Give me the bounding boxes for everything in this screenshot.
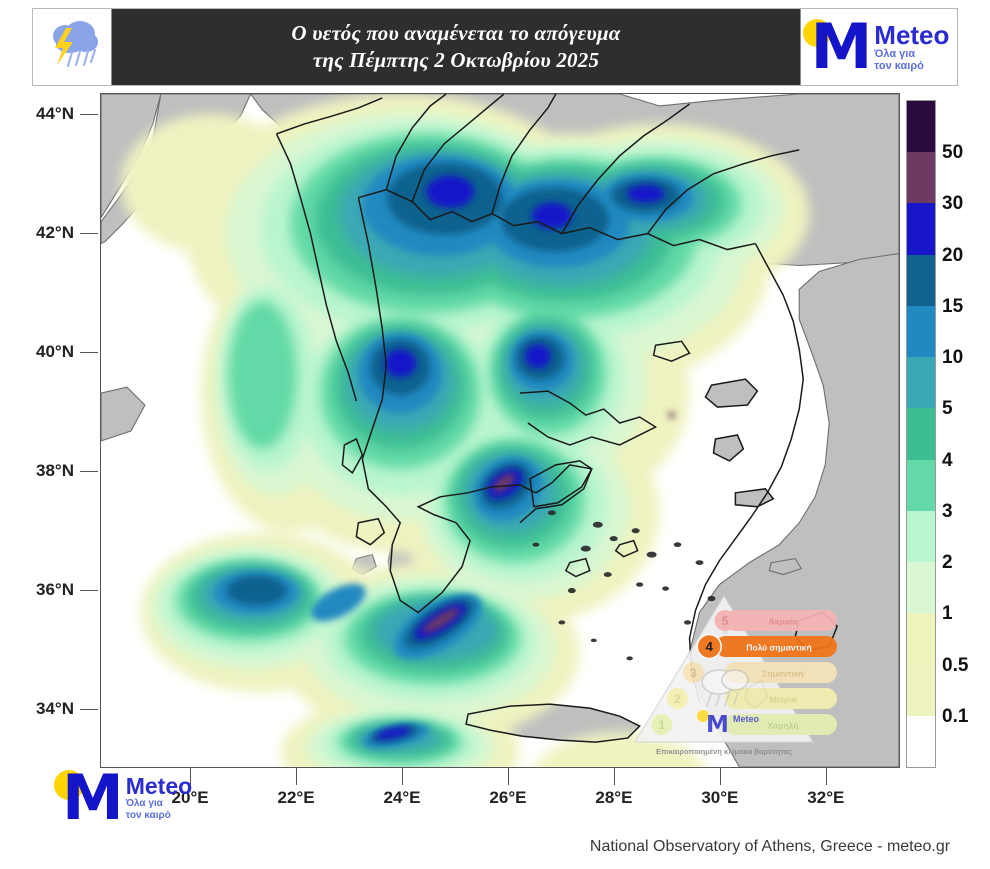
lon-tick: [720, 768, 721, 785]
colorbar-tick-label: 30: [942, 193, 963, 215]
lon-label: 28°E: [595, 788, 632, 808]
colorbar-band: [907, 716, 935, 767]
svg-text:M: M: [706, 712, 729, 738]
colorbar-tick-label: 4: [942, 450, 953, 472]
colorbar-band: [907, 613, 935, 664]
lat-label: 44°N: [36, 104, 74, 124]
colorbar-tick-label: 50: [942, 142, 963, 164]
page-title: Ο υετός που αναμένεται το απόγευμα της Π…: [112, 9, 800, 85]
thunderstorm-icon: [33, 9, 112, 85]
footer-credit: National Observatory of Athens, Greece -…: [570, 838, 970, 856]
meteo-logo-header[interactable]: M Meteo Όλα για τον καιρό: [800, 9, 957, 85]
lat-tick: [80, 709, 98, 710]
colorbar-tick-label: 10: [942, 347, 963, 369]
lon-tick: [402, 768, 403, 785]
pyramid-level-number: 2: [674, 692, 681, 706]
pyramid-level-number: 5: [722, 614, 729, 628]
colorbar-band: [907, 152, 935, 203]
meteo-wordmark: Meteo: [874, 22, 949, 48]
meteo-tagline-1: Όλα για: [126, 798, 192, 809]
lat-tick: [80, 352, 98, 353]
colorbar-tick-label: 2: [942, 552, 953, 574]
title-line-2: της Πέμπτης 2 Οκτωβρίου 2025: [313, 47, 599, 74]
lat-tick: [80, 471, 98, 472]
meteo-wordmark: Meteo: [126, 775, 192, 798]
meteo-tagline-2: τον καιρό: [126, 810, 192, 821]
pyramid-level-label: Ακραία: [769, 617, 799, 627]
colorbar-tick-label: 1: [942, 603, 953, 625]
severity-pyramid-legend: ΑκραίαΣημαντικήΜέτριαΧαμηλήΠολύ σημαντικ…: [607, 592, 842, 762]
pyramid-level-label: Μέτρια: [769, 695, 797, 705]
colorbar-band: [907, 460, 935, 511]
meteo-tagline-1: Όλα για: [874, 48, 949, 60]
svg-text:Meteo: Meteo: [733, 714, 760, 724]
colorbar-tick-label: 15: [942, 296, 963, 318]
lat-tick: [80, 114, 98, 115]
colorbar-band: [907, 664, 935, 715]
colorbar-tick-label: 20: [942, 245, 963, 267]
header-banner: Ο υετός που αναμένεται το απόγευμα της Π…: [32, 8, 958, 86]
pyramid-level-number: 3: [690, 666, 697, 680]
pyramid-level-label: Σημαντική: [762, 669, 804, 679]
colorbar-tick-label: 0.1: [942, 706, 968, 728]
pyramid-level-number: 1: [658, 718, 665, 732]
lat-label: 36°N: [36, 580, 74, 600]
colorbar-band: [907, 203, 935, 254]
lon-tick: [826, 768, 827, 785]
lat-label: 34°N: [36, 699, 74, 719]
colorbar-band: [907, 101, 935, 152]
pyramid-level-label: Πολύ σημαντική: [746, 643, 812, 653]
lat-label: 40°N: [36, 342, 74, 362]
lon-label: 32°E: [807, 788, 844, 808]
colorbar-band: [907, 408, 935, 459]
colorbar-band: [907, 511, 935, 562]
lon-label: 30°E: [701, 788, 738, 808]
meteo-m-mark: M: [811, 22, 873, 73]
meteo-logo-footer[interactable]: M Meteo Όλα για τον καιρό: [58, 772, 192, 824]
colorbar-band: [907, 306, 935, 357]
pyramid-level-label: Χαμηλή: [767, 721, 798, 731]
colorbar-tick-label: 0.5: [942, 655, 968, 677]
title-line-1: Ο υετός που αναμένεται το απόγευμα: [291, 20, 620, 47]
colorbar-band: [907, 255, 935, 306]
colorbar-tick-label: 5: [942, 398, 953, 420]
pyramid-level-number: 4: [706, 639, 714, 654]
lon-label: 22°E: [277, 788, 314, 808]
colorbar-band: [907, 357, 935, 408]
lon-label: 26°E: [489, 788, 526, 808]
colorbar-band: [907, 562, 935, 613]
meteo-tagline-2: τον καιρό: [874, 60, 949, 72]
lon-tick: [614, 768, 615, 785]
lat-label: 38°N: [36, 461, 74, 481]
meteo-m-mark: M: [62, 773, 124, 824]
lat-label: 42°N: [36, 223, 74, 243]
lon-tick: [508, 768, 509, 785]
colorbar[interactable]: [906, 100, 936, 768]
lon-label: 24°E: [383, 788, 420, 808]
svg-text:Επικαιροποιημένη κλίμακα βαρύτ: Επικαιροποιημένη κλίμακα βαρύτητας: [656, 747, 792, 756]
colorbar-tick-label: 3: [942, 501, 953, 523]
lat-tick: [80, 590, 98, 591]
lat-tick: [80, 233, 98, 234]
lon-tick: [296, 768, 297, 785]
